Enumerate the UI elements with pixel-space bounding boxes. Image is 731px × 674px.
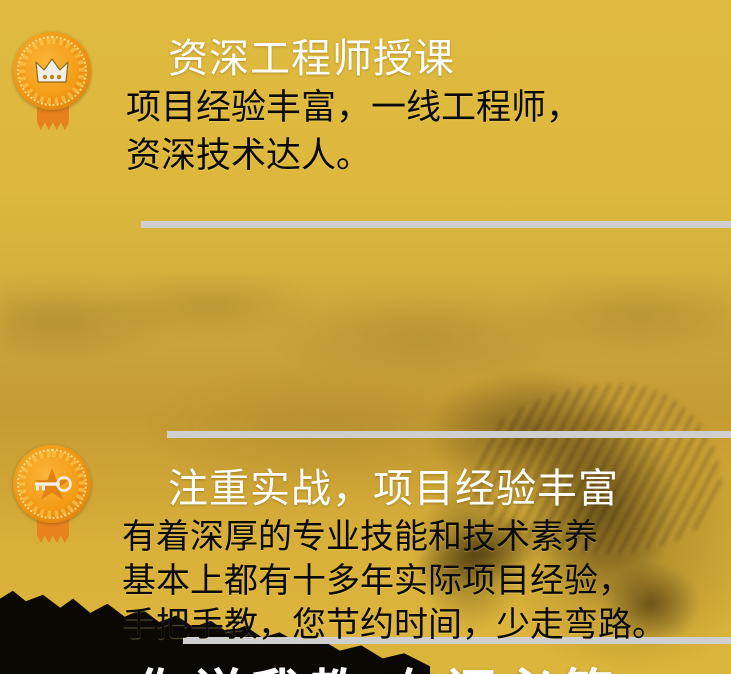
bottom-headline: 你说我教 有问必答: [135, 652, 619, 674]
feature-section-2: 注重实战，项目经验丰富 有着深厚的专业技能和技术素养 基本上都有十多年实际项目经…: [0, 218, 731, 430]
section-body-1: 项目经验丰富，一线工程师， 资深技术达人。: [126, 84, 581, 180]
crown-glyph: [35, 57, 69, 85]
course-feature-banner: 资深工程师授课 项目经验丰富，一线工程师， 资深技术达人。: [0, 0, 731, 674]
crown-medal-icon: [10, 30, 96, 136]
medal-coin-inner: [25, 44, 79, 98]
feature-section-3: 乐于分享，认真负责 针对客户实际需求，案例教学， 边讲边练，互动式授课，: [0, 430, 731, 630]
feature-section-1: 资深工程师授课 项目经验丰富，一线工程师， 资深技术达人。: [0, 0, 731, 218]
section-title-1: 资深工程师授课: [168, 26, 455, 84]
